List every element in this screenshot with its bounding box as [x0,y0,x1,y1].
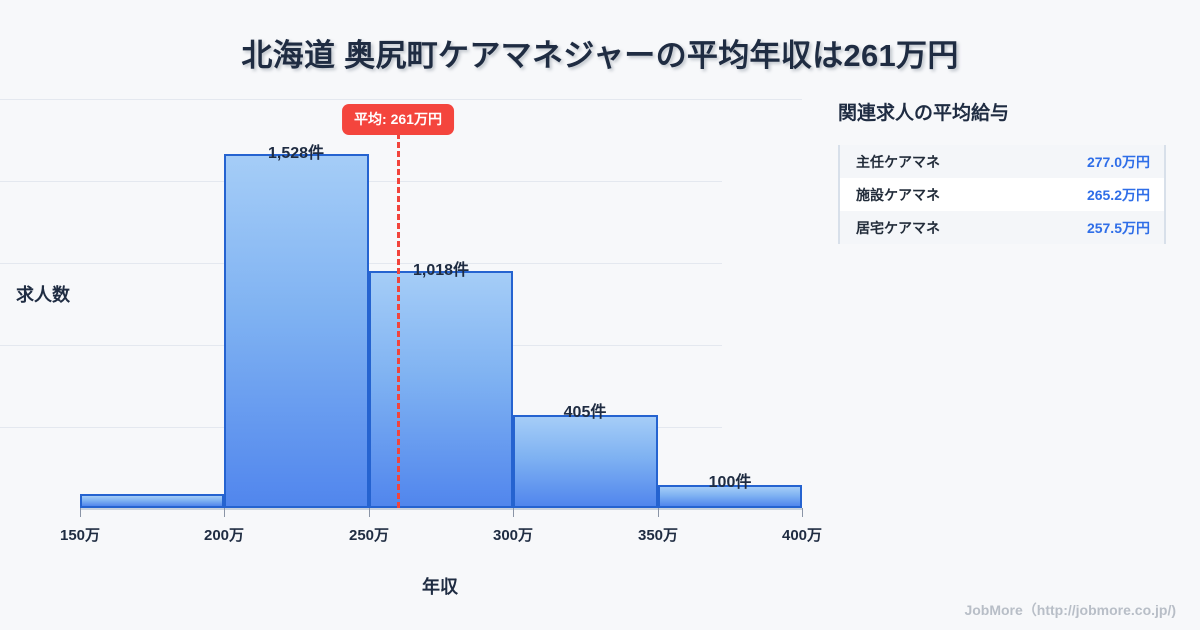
x-tick [80,508,81,517]
x-tick-label-250: 250万 [349,524,389,545]
x-tick-label-400: 400万 [782,524,822,545]
table-row[interactable]: 居宅ケアマネ 257.5万円 [840,211,1164,244]
table-row[interactable]: 主任ケアマネ 277.0万円 [840,145,1164,178]
bar-value-label-2: 1,528件 [268,139,324,163]
bar-value-label-3: 1,018件 [413,256,469,280]
x-axis-line [80,508,802,510]
x-tick [658,508,659,517]
x-tick [224,508,225,517]
x-axis-title: 年収 [0,573,880,599]
related-salary-title: 関連求人の平均給与 [838,98,1168,125]
bar-value-label-4: 405件 [564,398,607,422]
row-value: 277.0万円 [1087,152,1150,172]
related-salary-table: 主任ケアマネ 277.0万円 施設ケアマネ 265.2万円 居宅ケアマネ 257… [838,145,1166,244]
bar-bin-3[interactable] [369,271,513,508]
x-tick [802,508,803,517]
histogram-chart: 1,528件 1,018件 405件 100件 平均: 261万円 150万 2… [0,0,820,630]
y-axis-title: 求人数 [16,281,70,307]
row-value: 265.2万円 [1087,185,1150,205]
x-tick-label-350: 350万 [638,524,678,545]
row-label: 主任ケアマネ [856,152,940,172]
x-tick-label-200: 200万 [204,524,244,545]
x-tick [369,508,370,517]
related-salary-panel: 関連求人の平均給与 主任ケアマネ 277.0万円 施設ケアマネ 265.2万円 … [838,98,1168,244]
average-line [397,133,400,508]
bar-bin-2[interactable] [224,154,369,508]
row-value: 257.5万円 [1087,218,1150,238]
x-tick-label-150: 150万 [60,524,100,545]
average-badge: 平均: 261万円 [342,104,454,135]
bar-bin-4[interactable] [513,415,658,508]
table-row[interactable]: 施設ケアマネ 265.2万円 [840,178,1164,211]
row-label: 施設ケアマネ [856,185,940,205]
watermark: JobMore（http://jobmore.co.jp/) [964,600,1176,620]
bar-value-label-5: 100件 [709,468,752,492]
x-tick [513,508,514,517]
x-tick-label-300: 300万 [493,524,533,545]
bar-bin-1[interactable] [80,494,224,508]
row-label: 居宅ケアマネ [856,218,940,238]
infographic-page: 北海道 奥尻町ケアマネジャーの平均年収は261万円 1,528件 1,018件 … [0,0,1200,630]
plot-area [80,99,802,508]
